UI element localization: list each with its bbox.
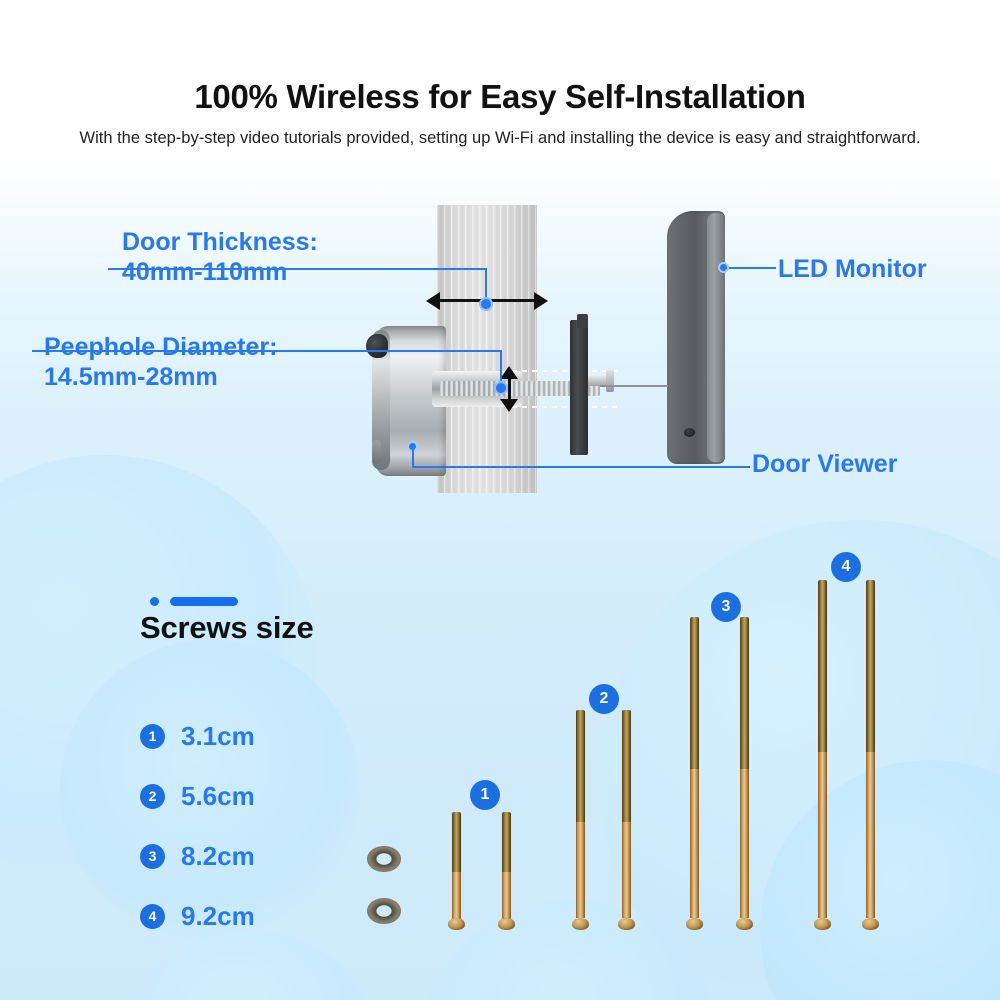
- leader-line-door-viewer: [412, 446, 414, 468]
- arrow-up-icon: [500, 366, 518, 379]
- leader-dot-peephole: [494, 381, 508, 395]
- door-panel: [437, 205, 537, 493]
- list-item: 4 9.2cm: [140, 886, 255, 946]
- led-monitor-port: [684, 428, 695, 437]
- page-subtitle: With the step-by-step video tutorials pr…: [0, 129, 1000, 148]
- list-item: 2 5.6cm: [140, 766, 255, 826]
- mount-screw-cap: [606, 370, 614, 392]
- section-marker-dot: [150, 597, 159, 606]
- leader-line-door-viewer: [412, 466, 750, 468]
- arrow-right-icon: [534, 292, 548, 310]
- screw-length-3: 8.2cm: [181, 841, 255, 872]
- background-bubble: [600, 520, 1000, 1000]
- screw-badge-2: 2: [140, 784, 165, 809]
- leader-dot-led-monitor: [718, 262, 729, 273]
- annotation-peephole-line2: 14.5mm-28mm: [44, 363, 277, 393]
- screw-group-1-item: [502, 812, 511, 930]
- screw-length-2: 5.6cm: [181, 781, 255, 812]
- list-item: 3 8.2cm: [140, 826, 255, 886]
- screw-badge-3: 3: [140, 844, 165, 869]
- header: 100% Wireless for Easy Self-Installation…: [0, 0, 1000, 148]
- page-title: 100% Wireless for Easy Self-Installation: [0, 78, 1000, 116]
- annotation-peephole-line1: Peephole Diameter:: [44, 333, 277, 363]
- screw-badge-1: 1: [140, 724, 165, 749]
- screw-group-4-item: [866, 580, 875, 930]
- background-bubble: [420, 900, 720, 1000]
- screw-number-badge-4: 4: [831, 552, 861, 582]
- screws-legend: 1 3.1cm 2 5.6cm 3 8.2cm 4 9.2cm: [140, 706, 255, 946]
- washer: [367, 898, 401, 924]
- screw-number-badge-3: 3: [711, 592, 741, 622]
- screw-length-1: 3.1cm: [181, 721, 255, 752]
- camera-lens: [366, 334, 388, 358]
- screw-number-badge-1: 1: [470, 780, 500, 810]
- screw-badge-4: 4: [140, 904, 165, 929]
- screw-group-2-item: [576, 710, 585, 930]
- annotation-door-viewer: Door Viewer: [752, 450, 897, 480]
- screw-group-4-item: [818, 580, 827, 930]
- camera-side-button: [372, 440, 381, 464]
- mounting-plate: [570, 320, 588, 455]
- barrel-guide-line: [512, 406, 622, 408]
- background-bubble: [760, 760, 1000, 1000]
- leader-line-led-monitor: [726, 267, 776, 269]
- annotation-peephole-diameter: Peephole Diameter: 14.5mm-28mm: [44, 333, 277, 392]
- annotation-led-monitor: LED Monitor: [778, 255, 927, 285]
- arrow-down-icon: [500, 399, 518, 412]
- screw-length-4: 9.2cm: [181, 901, 255, 932]
- mounting-plate-tab: [577, 314, 588, 328]
- section-marker-bar: [170, 597, 238, 606]
- infographic-canvas: 100% Wireless for Easy Self-Installation…: [0, 0, 1000, 1000]
- screw-group-2-item: [622, 710, 631, 930]
- connector-line-monitor: [600, 385, 668, 387]
- annotation-door-thickness-line2: 40mm-110mm: [122, 258, 318, 288]
- annotation-door-thickness: Door Thickness: 40mm-110mm: [122, 228, 318, 287]
- list-item: 1 3.1cm: [140, 706, 255, 766]
- led-monitor-edge: [707, 213, 725, 462]
- screw-number-badge-2: 2: [589, 684, 619, 714]
- leader-dot-door-thickness: [479, 297, 493, 311]
- screws-section-title: Screws size: [140, 610, 314, 646]
- arrow-left-icon: [426, 292, 440, 310]
- washer: [367, 846, 401, 872]
- screw-group-3-item: [690, 617, 699, 930]
- screw-group-1-item: [452, 812, 461, 930]
- annotation-door-thickness-line1: Door Thickness:: [122, 228, 318, 258]
- screw-group-3-item: [740, 617, 749, 930]
